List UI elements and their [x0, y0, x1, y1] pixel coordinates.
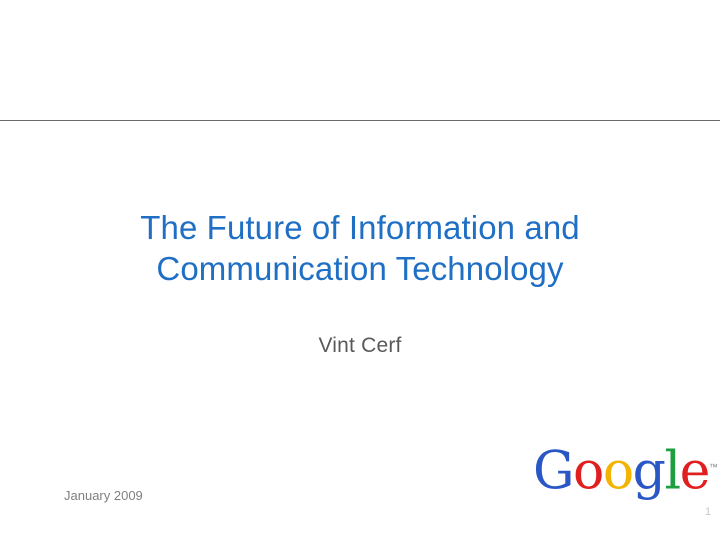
- trademark-mark: ™: [709, 462, 718, 472]
- logo-letter-o-second: o: [603, 441, 633, 501]
- page-number: 1: [700, 505, 716, 519]
- logo-letter-l: l: [664, 441, 679, 501]
- logo-letter-o-first: o: [573, 441, 603, 501]
- slide-title: The Future of Information and Communicat…: [0, 207, 720, 289]
- presentation-slide: The Future of Information and Communicat…: [0, 0, 720, 540]
- title-line-2: Communication Technology: [0, 248, 720, 289]
- logo-letter-e: e: [680, 441, 709, 501]
- title-line-1: The Future of Information and: [0, 207, 720, 248]
- presenter-name: Vint Cerf: [0, 333, 720, 359]
- header-divider-rule: [0, 120, 720, 121]
- logo-letter-g-upper: G: [533, 441, 573, 501]
- logo-letter-g-lower: g: [633, 441, 665, 501]
- google-logo: Google™: [533, 441, 718, 497]
- slide-date: January 2009: [64, 488, 143, 504]
